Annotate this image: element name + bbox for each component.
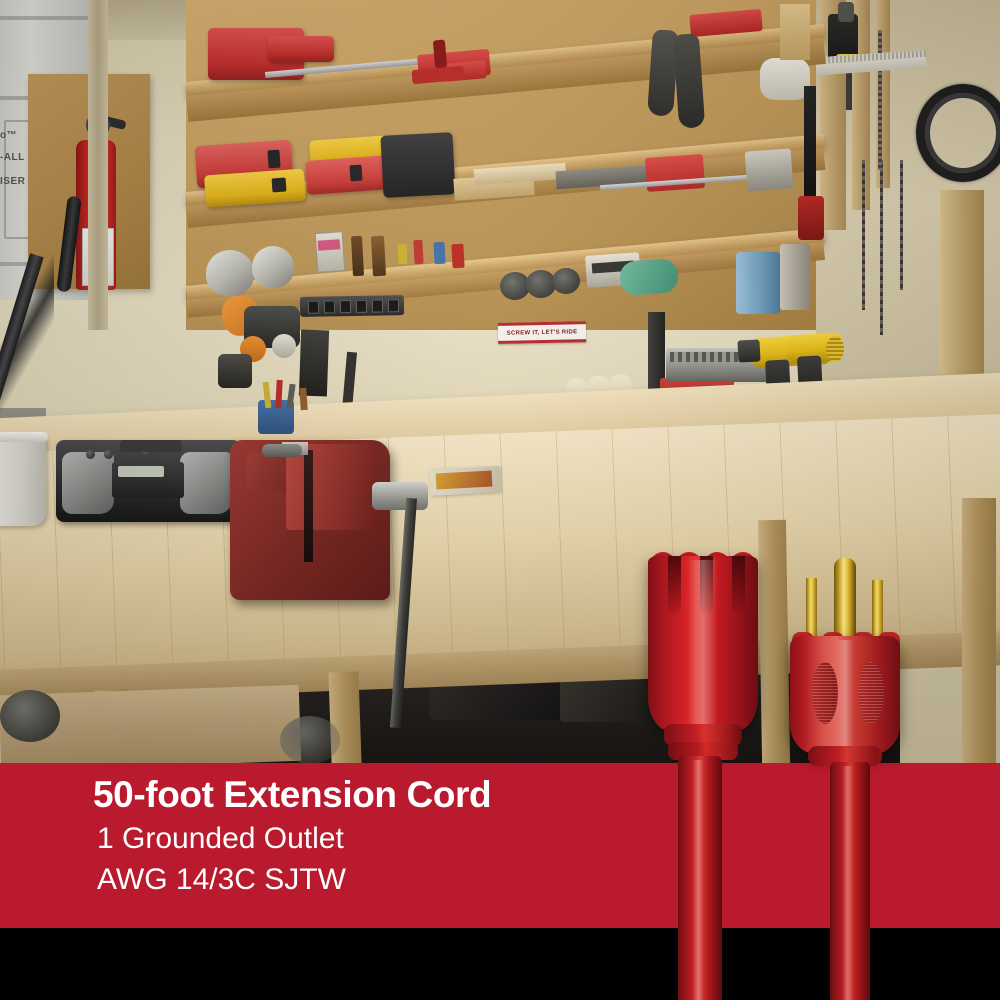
- connector-highlight: [688, 560, 718, 732]
- tool-case: [380, 132, 455, 198]
- hook: [413, 240, 423, 264]
- misc-tool: [745, 148, 794, 191]
- small-box: [315, 231, 346, 273]
- hanging-chain: [900, 160, 903, 290]
- outlet-socket: [308, 301, 319, 314]
- boombox-display: [118, 466, 164, 477]
- bucket-rim: [0, 432, 48, 442]
- paper-towel-roll: [736, 252, 780, 314]
- outlet-socket: [324, 300, 335, 313]
- hanging-cable: [299, 330, 329, 397]
- connector-groove: [732, 556, 745, 614]
- boombox-knob: [86, 450, 95, 459]
- hook: [433, 242, 445, 265]
- ear-muff: [206, 250, 254, 296]
- plug-grip-pad: [812, 662, 838, 724]
- shop-roll: [780, 244, 810, 310]
- boombox-speaker: [180, 452, 232, 514]
- product-image-stage: o™ -ALL ISER: [0, 0, 1000, 1000]
- plastic-bucket: [0, 436, 46, 526]
- case-latch: [267, 150, 280, 169]
- hand-tool: [371, 236, 386, 277]
- hanging-cord: [804, 86, 816, 196]
- outlet-socket: [356, 300, 367, 313]
- plug-highlight: [836, 640, 854, 752]
- hook: [451, 244, 464, 269]
- bumper-sticker-text: SCREW IT, LET'S RIDE: [507, 329, 578, 336]
- coiled-extension-cord: [916, 84, 1000, 182]
- cord-highlight: [842, 766, 853, 1000]
- tool-handle: [299, 388, 308, 410]
- caster-wheel: [280, 716, 340, 763]
- small-extinguisher: [798, 196, 824, 240]
- product-feature-line-1: 1 Grounded Outlet: [97, 818, 653, 859]
- hook: [397, 244, 407, 264]
- bar-clamp-handle: [433, 40, 447, 69]
- respirator-filter: [272, 334, 296, 358]
- cord-highlight: [692, 760, 704, 1000]
- ear-muff: [252, 246, 294, 288]
- connector-groove: [668, 556, 681, 614]
- plastic-bag: [760, 58, 810, 100]
- boombox-speaker: [62, 452, 114, 514]
- case-latch: [349, 165, 362, 182]
- boombox-knob: [104, 450, 113, 459]
- hand-tool: [351, 236, 364, 277]
- drill-chuck: [737, 339, 760, 362]
- bench-vise-rod: [262, 444, 302, 457]
- bar-clamp-head: [268, 36, 334, 62]
- drill-vent: [826, 336, 844, 362]
- product-headline: 50-foot Extension Cord: [93, 772, 653, 818]
- plug-grip-pad: [858, 662, 884, 724]
- boombox-cd-lid: [120, 440, 182, 452]
- green-canister: [619, 258, 679, 296]
- outlet-socket: [340, 300, 351, 313]
- hanging-chain: [878, 30, 882, 170]
- outlet-socket: [388, 299, 399, 312]
- product-banner-text-block: 50-foot Extension Cord 1 Grounded Outlet…: [93, 772, 653, 900]
- bench-vise-screw: [372, 482, 428, 510]
- caster-wheel: [0, 690, 60, 742]
- bench-vise-gap: [304, 450, 313, 562]
- booklet-cover: [436, 471, 493, 490]
- case-latch: [272, 178, 287, 193]
- wood-block: [780, 4, 810, 60]
- cabinet-rib: [0, 16, 88, 20]
- bench-vise-jaw: [286, 444, 378, 530]
- workbench-leg: [758, 520, 790, 763]
- power-strip: [300, 295, 404, 317]
- product-feature-line-2: AWG 14/3C SJTW: [97, 859, 653, 900]
- outlet-socket: [372, 299, 383, 312]
- workbench-leg: [962, 498, 996, 763]
- drill-press-motor: [838, 2, 854, 22]
- wall-stud: [88, 0, 108, 330]
- tool-case: [305, 155, 393, 195]
- hanging-chain: [862, 160, 865, 310]
- hanging-chain: [880, 160, 883, 335]
- bumper-sticker: SCREW IT, LET'S RIDE: [498, 321, 586, 344]
- box-label: [318, 239, 341, 251]
- hanging-tool: [218, 354, 252, 388]
